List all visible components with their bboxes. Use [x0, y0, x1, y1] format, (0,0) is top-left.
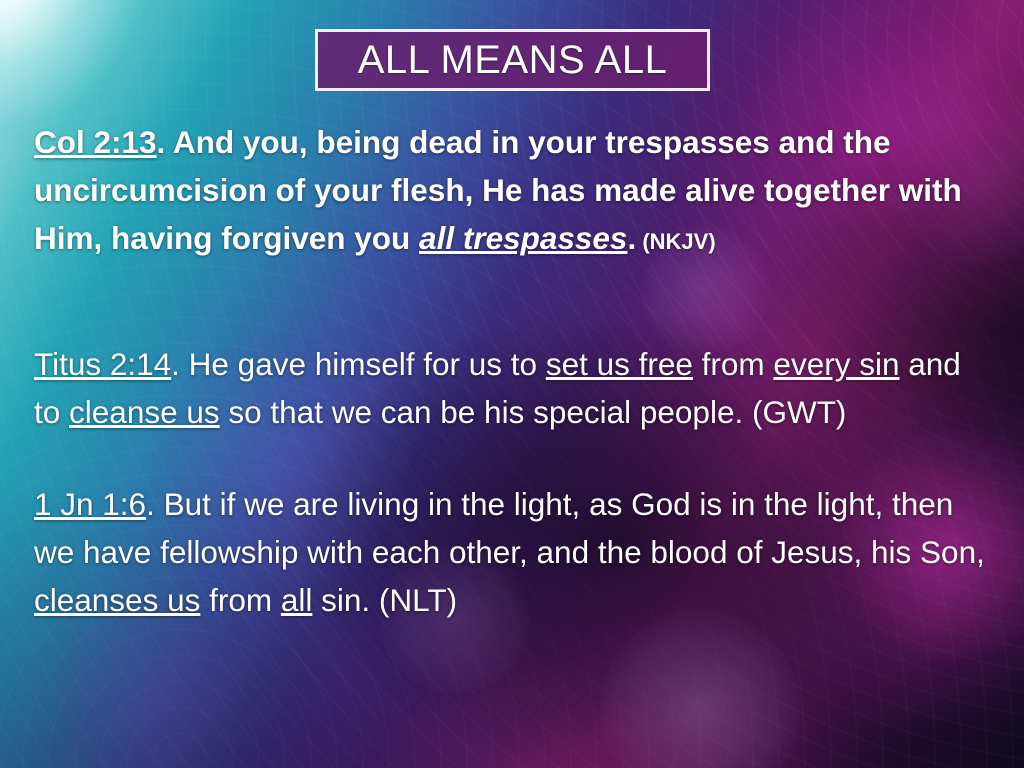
scripture-text: .	[627, 220, 636, 256]
scripture-text: . He gave himself for us to	[171, 346, 546, 382]
scripture-emphasis: all	[281, 582, 313, 618]
scripture-passage-titus: Titus 2:14. He gave himself for us to se…	[34, 340, 994, 436]
scripture-reference: Col 2:13	[34, 124, 157, 160]
scripture-text: from	[200, 582, 281, 618]
presentation-slide: ALL MEANS ALL Col 2:13. And you, being d…	[0, 0, 1024, 768]
scripture-reference: 1 Jn 1:6	[34, 486, 146, 522]
scripture-emphasis: set us free	[546, 346, 693, 382]
page-title: ALL MEANS ALL	[358, 40, 668, 80]
bokeh-orb	[55, 600, 245, 768]
scripture-reference: Titus 2:14	[34, 346, 171, 382]
scripture-emphasis: cleanses us	[34, 582, 200, 618]
scripture-passage-john: 1 Jn 1:6. But if we are living in the li…	[34, 480, 994, 624]
scripture-text: so that we can be his special people. (G…	[220, 394, 847, 430]
scripture-text: from	[693, 346, 774, 382]
slide-title-box: ALL MEANS ALL	[315, 29, 710, 91]
scripture-text: sin. (NLT)	[312, 582, 457, 618]
scripture-emphasis: all trespasses	[419, 220, 627, 256]
scripture-passage-col: Col 2:13. And you, being dead in your tr…	[34, 118, 994, 266]
scripture-body: Col 2:13. And you, being dead in your tr…	[34, 118, 994, 624]
scripture-text: . But if we are living in the light, as …	[34, 486, 985, 570]
scripture-emphasis: cleanse us	[69, 394, 220, 430]
bokeh-orb	[600, 610, 800, 768]
scripture-emphasis: every sin	[773, 346, 899, 382]
scripture-version: (NKJV)	[636, 229, 715, 254]
